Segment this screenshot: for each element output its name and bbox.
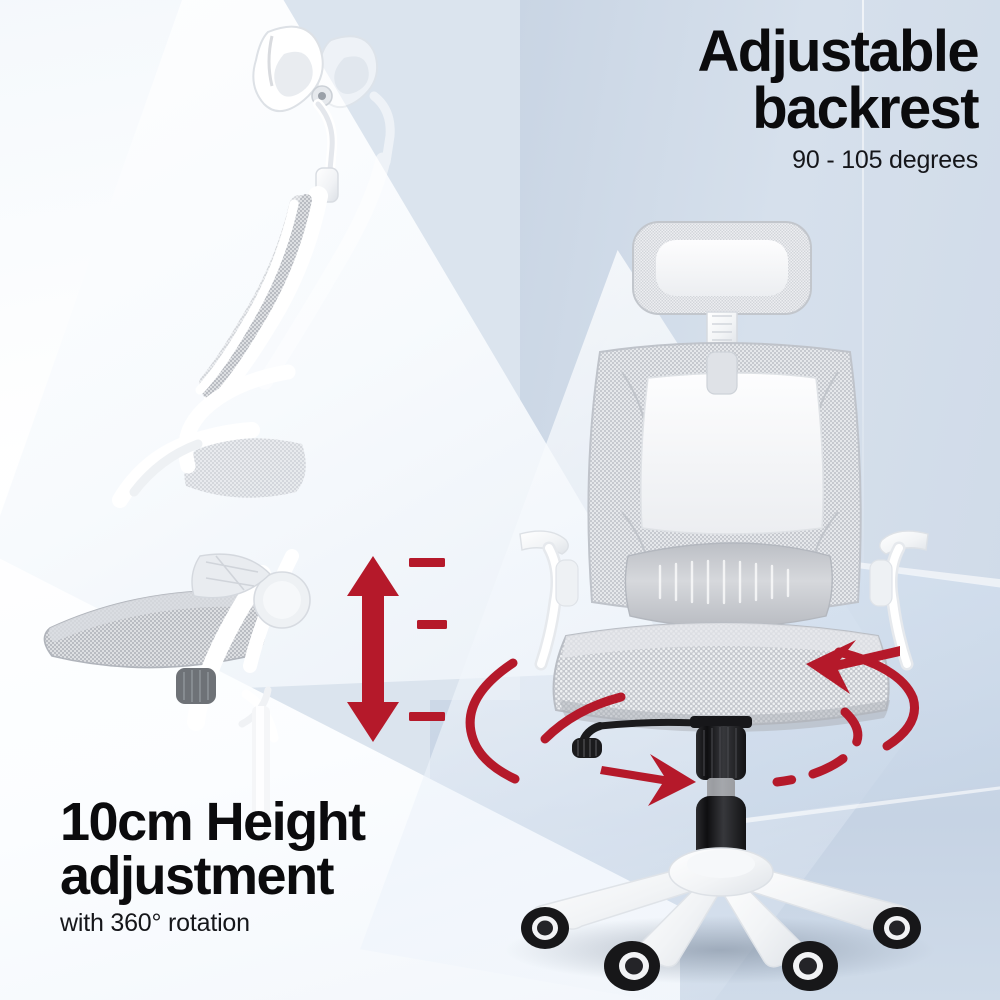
headline-height-adjustment: 10cm Height adjustment with 360° rotatio… xyxy=(60,795,365,938)
headline-subtext: with 360° rotation xyxy=(60,909,365,938)
headline-line-1: 10cm Height xyxy=(60,795,365,849)
tilt-position-upright xyxy=(44,27,338,830)
headline-line-1: Adjustable xyxy=(698,24,979,81)
headline-adjustable-backrest: Adjustable backrest 90 - 105 degrees xyxy=(698,24,979,175)
headline-subtext: 90 - 105 degrees xyxy=(698,146,979,175)
product-feature-image: Adjustable backrest 90 - 105 degrees 10c… xyxy=(0,0,1000,1000)
headline-line-2: backrest xyxy=(698,81,979,138)
headline-line-2: adjustment xyxy=(60,849,365,903)
